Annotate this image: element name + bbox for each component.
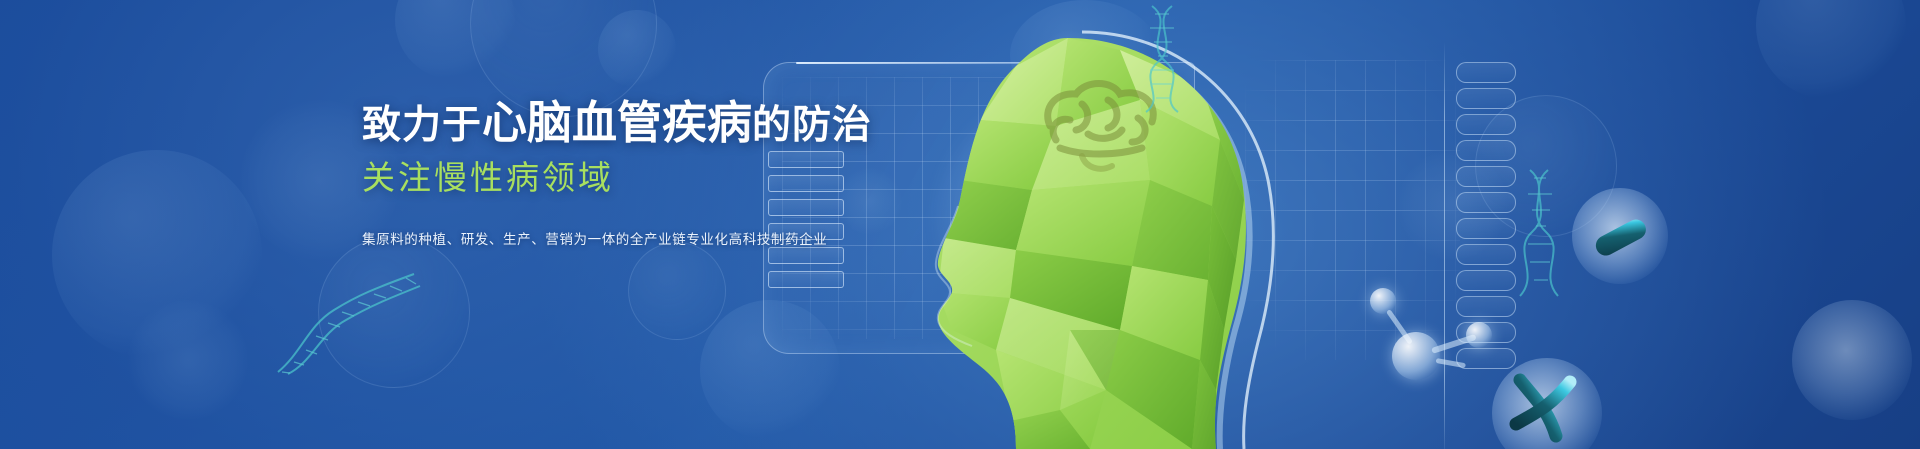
hud-pill [1456, 218, 1516, 239]
hud-pill [1456, 192, 1516, 213]
dna-helix-left [272, 268, 422, 378]
low-poly-head-graphic [820, 30, 1380, 449]
hud-pill [1456, 244, 1516, 265]
hud-pill [1456, 114, 1516, 135]
head-outline-svg [820, 30, 1380, 449]
molecule-node [1370, 288, 1396, 314]
hud-pill [1456, 62, 1516, 83]
bokeh-circle [1756, 0, 1906, 100]
subheadline: 关注慢性病领域 [362, 158, 792, 198]
chromosome-icon [1492, 358, 1602, 449]
bacterium-cell [1572, 188, 1668, 284]
bokeh-circle [395, 0, 515, 80]
molecule-node [1466, 322, 1492, 348]
hud-pill [1456, 88, 1516, 109]
bokeh-circle [598, 10, 676, 88]
caption: 集原料的种植、研发、生产、营销为一体的全产业链专业化高科技制药企业 [362, 228, 792, 248]
chromosome-cell [1492, 358, 1602, 449]
headline-emphasis: 心脑血管疾病 [482, 97, 752, 148]
banner-copy: 致力于心脑血管疾病的防治 关注慢性病领域 集原料的种植、研发、生产、营销为一体的… [362, 96, 792, 248]
cell-halo [1792, 300, 1912, 420]
headline: 致力于心脑血管疾病的防治 [362, 96, 792, 149]
bokeh-circle [128, 300, 248, 420]
bokeh-circle [318, 236, 470, 388]
bokeh-circle [52, 150, 262, 360]
molecule-node [1392, 332, 1440, 380]
bacterium-icon [1572, 188, 1668, 284]
molecule-bond [1436, 358, 1466, 368]
hero-banner: 致力于心脑血管疾病的防治 关注慢性病领域 集原料的种植、研发、生产、营销为一体的… [0, 0, 1920, 449]
headline-prefix: 致力于 [362, 104, 482, 147]
hud-pill [1456, 166, 1516, 187]
hud-pill [1456, 140, 1516, 161]
bokeh-circle [628, 242, 726, 340]
headline-suffix: 的防治 [752, 104, 872, 147]
